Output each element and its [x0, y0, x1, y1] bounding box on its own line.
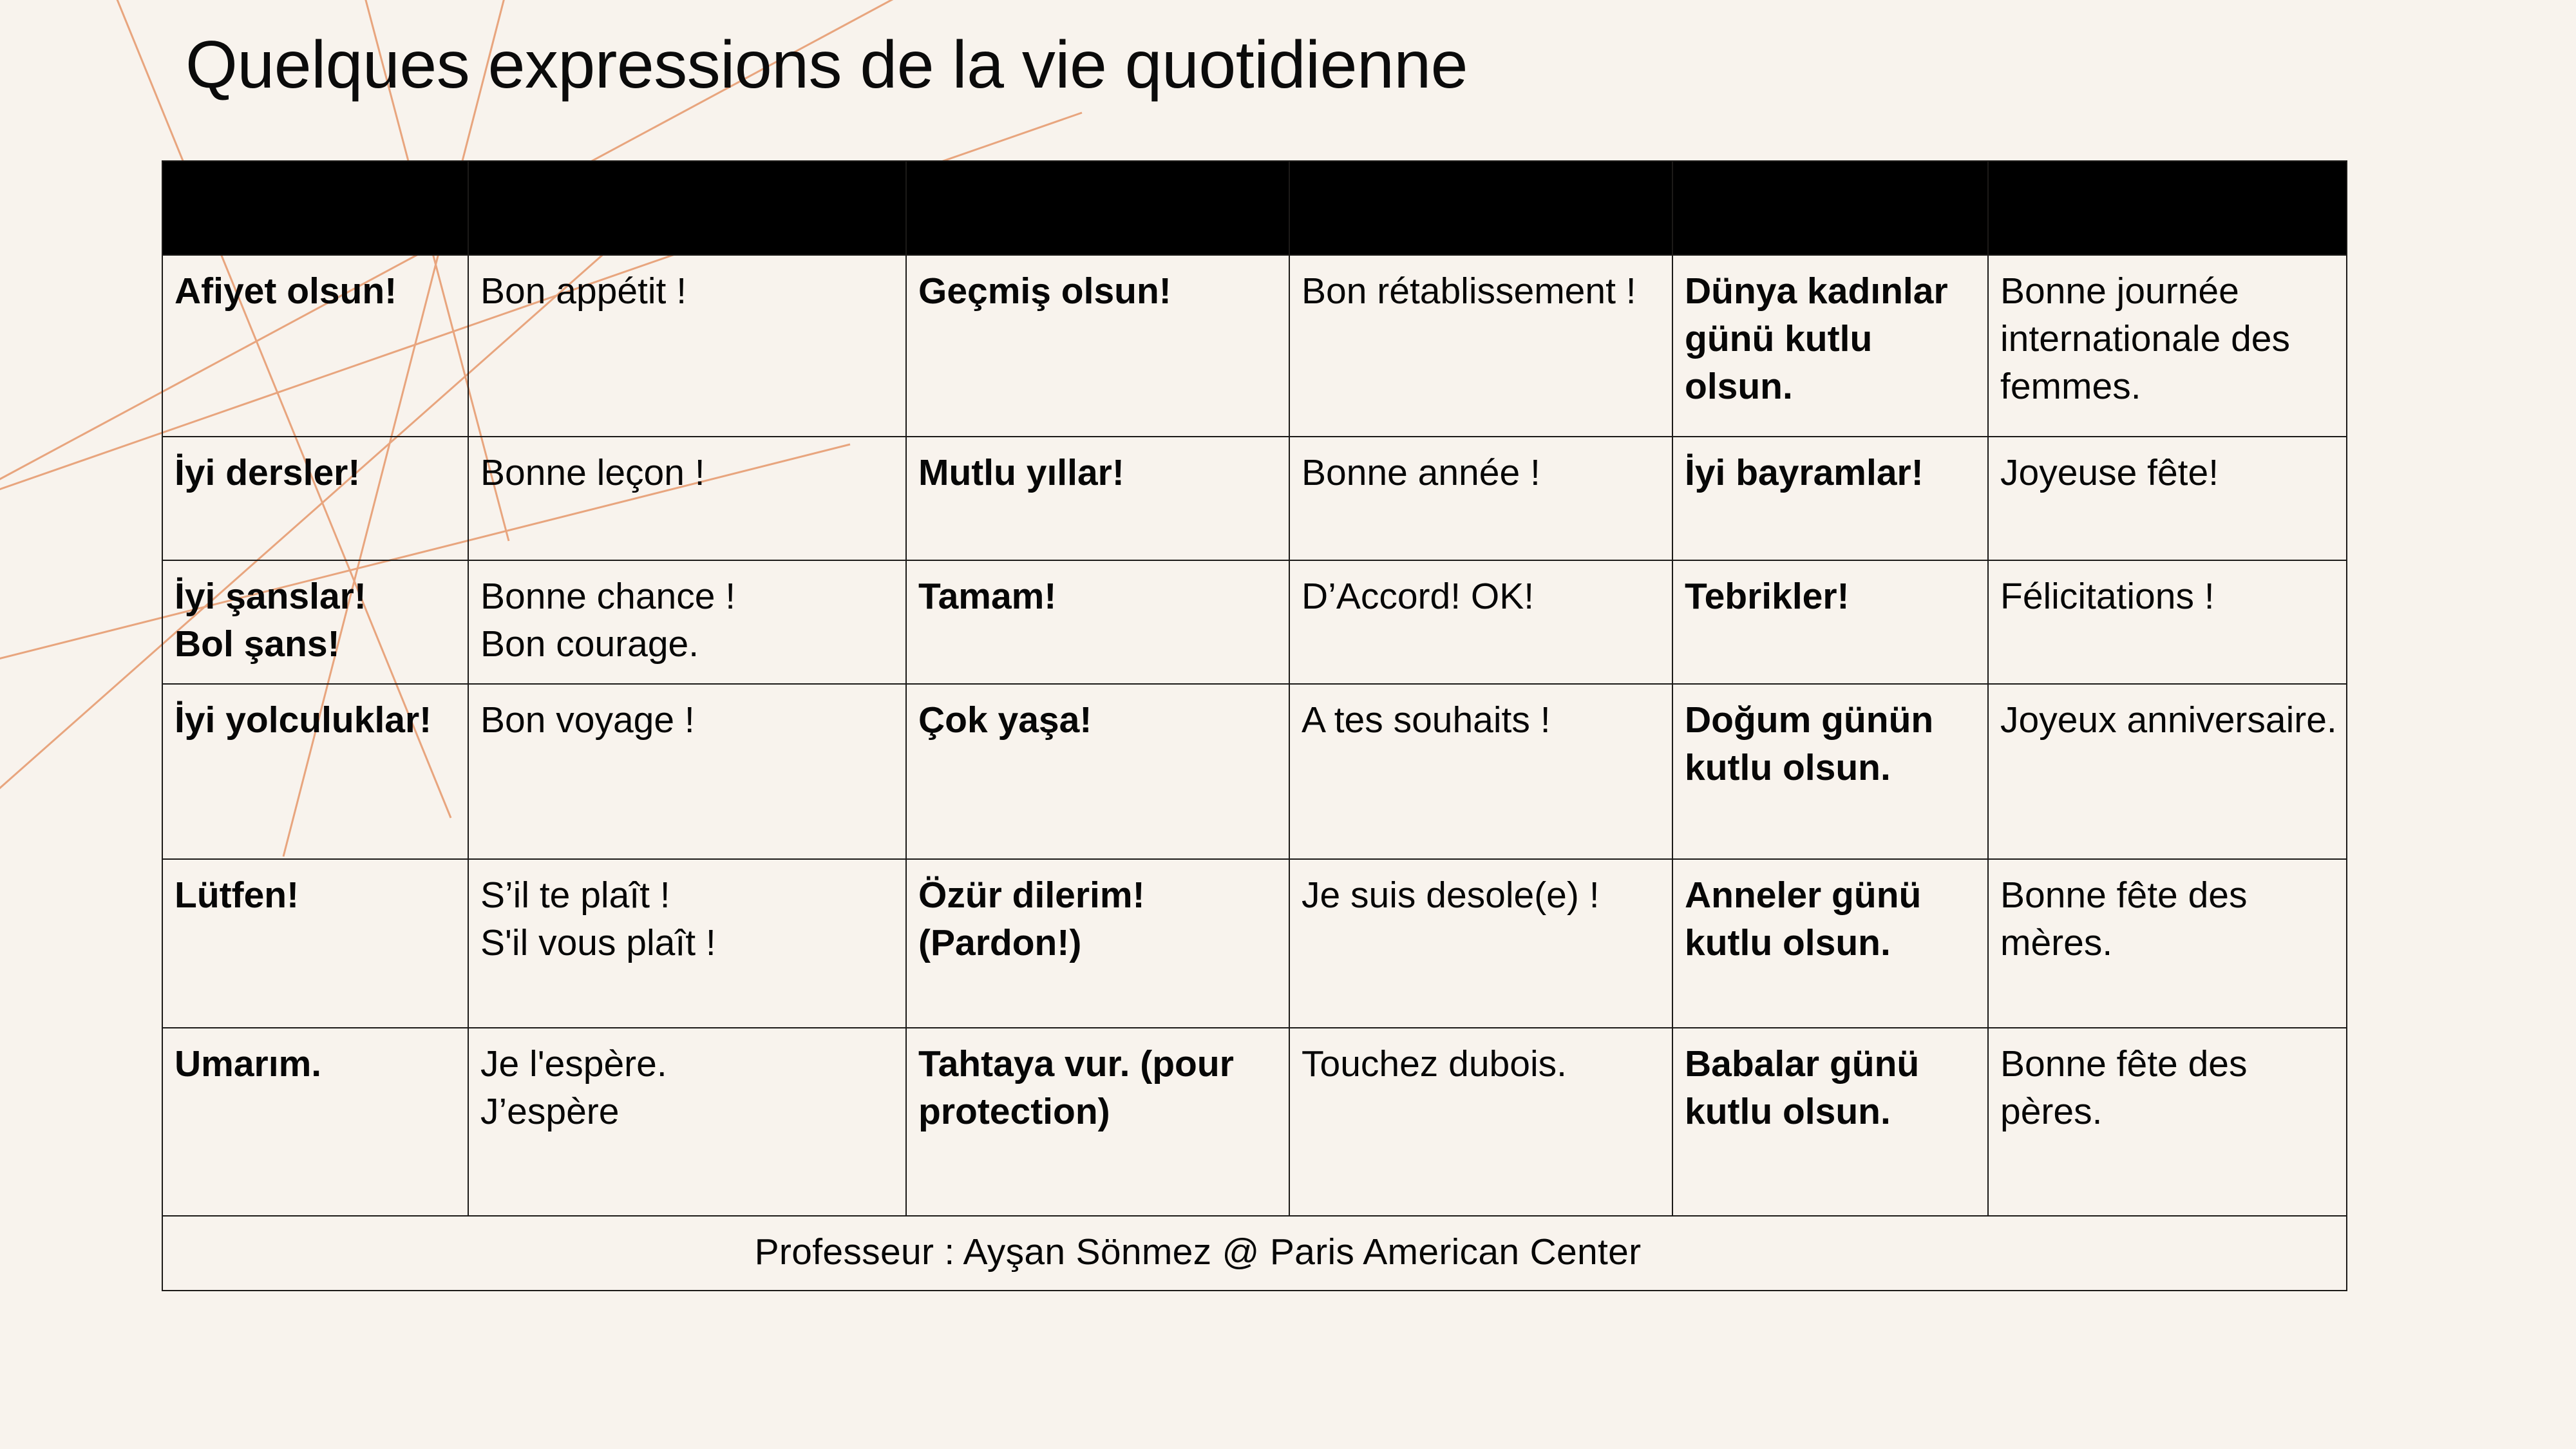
cell-line: Afiyet olsun! — [175, 267, 459, 315]
cell-french: Bonne leçon ! — [468, 437, 906, 560]
cell-french: Bonne fête des pères. — [1988, 1028, 2347, 1216]
cell-line: Çok yaşa! — [918, 696, 1280, 744]
cell-line: İyi yolculuklar! — [175, 696, 459, 744]
cell-turkish: Afiyet olsun! — [162, 255, 468, 437]
cell-line: Touchez dubois. — [1302, 1040, 1663, 1088]
header-cell-1 — [162, 161, 468, 255]
cell-turkish: Tamam! — [906, 560, 1289, 684]
cell-line: Geçmiş olsun! — [918, 267, 1280, 315]
cell-french: Je l'espère.J’espère — [468, 1028, 906, 1216]
cell-french: Bonne fête des mères. — [1988, 859, 2347, 1028]
cell-line: Bon appétit ! — [480, 267, 896, 315]
footer-credit-text: Professeur : Ayşan Sönmez @ Paris Americ… — [755, 1228, 1757, 1276]
header-cell-4 — [1289, 161, 1672, 255]
cell-line: Félicitations ! — [2000, 573, 2337, 620]
cell-turkish: Anneler günü kutlu olsun. — [1672, 859, 1988, 1028]
cell-turkish: İyi yolculuklar! — [162, 684, 468, 859]
cell-french: S’il te plaît !S'il vous plaît ! — [468, 859, 906, 1028]
cell-french: Joyeux anniversaire. — [1988, 684, 2347, 859]
header-cell-2 — [468, 161, 906, 255]
cell-line: Bonne fête des pères. — [2000, 1040, 2337, 1135]
cell-line: J’espère — [480, 1088, 896, 1135]
cell-line: Mutlu yıllar! — [918, 449, 1280, 497]
footer-credit: Professeur : Ayşan Sönmez @ Paris Americ… — [162, 1216, 2347, 1291]
cell-line: A tes souhaits ! — [1302, 696, 1663, 744]
cell-line: S'il vous plaît ! — [480, 919, 896, 967]
cell-line: Doğum günün kutlu olsun. — [1685, 696, 1978, 791]
page-title: Quelques expressions de la vie quotidien… — [185, 24, 1468, 106]
cell-line: İyi dersler! — [175, 449, 459, 497]
cell-french: Joyeuse fête! — [1988, 437, 2347, 560]
header-cell-3 — [906, 161, 1289, 255]
cell-turkish: Lütfen! — [162, 859, 468, 1028]
cell-line: Anneler günü kutlu olsun. — [1685, 871, 1978, 967]
cell-french: A tes souhaits ! — [1289, 684, 1672, 859]
cell-line: Umarım. — [175, 1040, 459, 1088]
cell-turkish: Geçmiş olsun! — [906, 255, 1289, 437]
cell-french: Bon appétit ! — [468, 255, 906, 437]
cell-line: S’il te plaît ! — [480, 871, 896, 919]
cell-line: Bon voyage ! — [480, 696, 896, 744]
table-row: Lütfen! S’il te plaît !S'il vous plaît !… — [162, 859, 2347, 1028]
cell-line: Bol şans! — [175, 620, 459, 668]
cell-turkish: Umarım. — [162, 1028, 468, 1216]
cell-line: D’Accord! OK! — [1302, 573, 1663, 620]
cell-line: Bonne leçon ! — [480, 449, 896, 497]
table-row: İyi yolculuklar! Bon voyage ! Çok yaşa! … — [162, 684, 2347, 859]
cell-line: Bonne chance ! — [480, 573, 896, 620]
cell-turkish: İyi şanslar!Bol şans! — [162, 560, 468, 684]
cell-french: Bon rétablissement ! — [1289, 255, 1672, 437]
cell-turkish: İyi bayramlar! — [1672, 437, 1988, 560]
cell-turkish: Çok yaşa! — [906, 684, 1289, 859]
cell-french: Je suis desole(e) ! — [1289, 859, 1672, 1028]
cell-turkish: Dünya kadınlar günü kutlu olsun. — [1672, 255, 1988, 437]
cell-french: Bonne journée internationale des femmes. — [1988, 255, 2347, 437]
cell-french: Touchez dubois. — [1289, 1028, 1672, 1216]
cell-line: Tahtaya vur. (pour protection) — [918, 1040, 1280, 1135]
cell-french: Félicitations ! — [1988, 560, 2347, 684]
cell-turkish: İyi dersler! — [162, 437, 468, 560]
cell-line: Je l'espère. — [480, 1040, 896, 1088]
cell-line: Tebrikler! — [1685, 573, 1978, 620]
cell-french: Bonne année ! — [1289, 437, 1672, 560]
cell-turkish: Doğum günün kutlu olsun. — [1672, 684, 1988, 859]
cell-line: Je suis desole(e) ! — [1302, 871, 1663, 919]
cell-line: Babalar günü kutlu olsun. — [1685, 1040, 1978, 1135]
cell-line: Lütfen! — [175, 871, 459, 919]
cell-line: Özür dilerim! (Pardon!) — [918, 871, 1280, 967]
table-row: İyi şanslar!Bol şans! Bonne chance !Bon … — [162, 560, 2347, 684]
cell-line: Joyeux anniversaire. — [2000, 696, 2337, 744]
cell-line: İyi şanslar! — [175, 573, 459, 620]
cell-line: Bonne année ! — [1302, 449, 1663, 497]
header-cell-5 — [1672, 161, 1988, 255]
cell-line: Bonne fête des mères. — [2000, 871, 2337, 967]
cell-french: Bonne chance !Bon courage. — [468, 560, 906, 684]
table-header-row — [162, 161, 2347, 255]
slide-canvas: Quelques expressions de la vie quotidien… — [0, 0, 2576, 1449]
cell-line: Bonne journée internationale des femmes. — [2000, 267, 2337, 410]
table-footer-row: Professeur : Ayşan Sönmez @ Paris Americ… — [162, 1216, 2347, 1291]
cell-line: Bon rétablissement ! — [1302, 267, 1663, 315]
cell-line: İyi bayramlar! — [1685, 449, 1978, 497]
expressions-table: Afiyet olsun! Bon appétit ! Geçmiş olsun… — [162, 160, 2347, 1291]
table-row: İyi dersler! Bonne leçon ! Mutlu yıllar!… — [162, 437, 2347, 560]
cell-turkish: Tahtaya vur. (pour protection) — [906, 1028, 1289, 1216]
cell-french: D’Accord! OK! — [1289, 560, 1672, 684]
cell-line: Bon courage. — [480, 620, 896, 668]
header-cell-6 — [1988, 161, 2347, 255]
cell-line: Joyeuse fête! — [2000, 449, 2337, 497]
cell-line: Tamam! — [918, 573, 1280, 620]
cell-turkish: Babalar günü kutlu olsun. — [1672, 1028, 1988, 1216]
table-row: Umarım. Je l'espère.J’espère Tahtaya vur… — [162, 1028, 2347, 1216]
cell-turkish: Mutlu yıllar! — [906, 437, 1289, 560]
cell-line: Dünya kadınlar günü kutlu olsun. — [1685, 267, 1978, 410]
cell-turkish: Tebrikler! — [1672, 560, 1988, 684]
table-row: Afiyet olsun! Bon appétit ! Geçmiş olsun… — [162, 255, 2347, 437]
cell-french: Bon voyage ! — [468, 684, 906, 859]
cell-turkish: Özür dilerim! (Pardon!) — [906, 859, 1289, 1028]
